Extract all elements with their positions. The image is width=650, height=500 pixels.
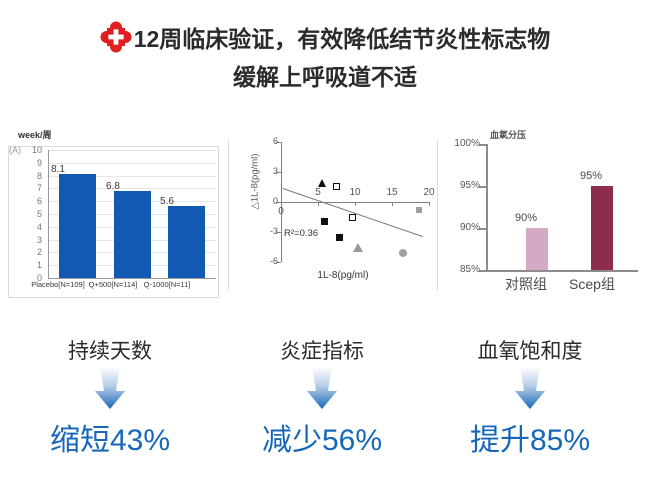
scatter-point-2 [333, 183, 340, 190]
metric-label-inflammation: 炎症指标 [222, 335, 422, 365]
bar-ytick-4: 4 [22, 222, 42, 232]
inflammation-scatter-chart: 6 3 0 -3 -6 0 5 10 15 20 △1L-8(pg/ml) 1L… [238, 128, 433, 303]
scatter-y-axis-label: △1L-8(pg/ml) [250, 137, 261, 227]
oxygen-column-scep [591, 186, 613, 270]
scatter-ytick-n3: -3 [260, 226, 278, 236]
scatter-ytick-6: 6 [260, 136, 278, 146]
oxygen-category-scep: Scep组 [557, 274, 627, 294]
bar-ytick-10: 10 [22, 145, 42, 155]
bar-ytick-6: 6 [22, 196, 42, 206]
scatter-xtick-10: 10 [343, 187, 367, 198]
bar-value-q1000: 5.6 [142, 196, 192, 207]
blood-oxygen-bar-chart: 血氧分压 100% 95% 90% 85% 90% 95% 对照组 Scep组 [446, 128, 642, 303]
oxygen-category-control: 对照组 [491, 274, 561, 294]
title-text-1: 12周临床验证，有效降低结节炎性标志物 [134, 26, 551, 52]
scatter-point-4 [321, 218, 328, 225]
bar-column-q1000 [168, 206, 205, 278]
metric-value-inflammation: 减少56% [212, 415, 432, 459]
page-title: 12周临床验证，有效降低结节炎性标志物 缓解上呼吸道不适 [0, 20, 650, 96]
bar-chart-axis-prefix: (A) [9, 145, 21, 155]
bar-value-placebo: 8.1 [33, 164, 83, 175]
down-arrow-icon-2 [299, 365, 345, 411]
bar-ytick-1: 1 [22, 260, 42, 270]
scatter-point-1 [318, 179, 326, 187]
scatter-xtick-15: 15 [380, 187, 404, 198]
metric-value-oxygen: 提升85% [420, 415, 640, 459]
scatter-point-3 [349, 214, 356, 221]
scatter-point-5 [336, 234, 343, 241]
scatter-ytick-3: 3 [260, 166, 278, 176]
oxygen-value-control: 90% [498, 212, 554, 224]
title-line-1: 12周临床验证，有效降低结节炎性标志物 [0, 20, 650, 58]
scatter-point-6 [353, 243, 363, 252]
oxygen-ytick-85: 85% [446, 264, 480, 275]
oxygen-chart-title: 血氧分压 [490, 128, 526, 141]
scatter-ytick-n6: -6 [260, 256, 278, 266]
scatter-r-squared-annotation: R²=0.36 [284, 228, 318, 239]
column-divider-1 [228, 140, 229, 290]
down-arrow-icon-1 [87, 365, 133, 411]
medical-cross-clover-icon [100, 21, 132, 53]
scatter-point-8 [416, 207, 422, 213]
bar-ytick-5: 5 [22, 209, 42, 219]
scatter-xtick-0: 0 [269, 206, 293, 217]
oxygen-value-scep: 95% [563, 170, 619, 182]
bar-ytick-3: 3 [22, 235, 42, 245]
oxygen-x-axis [486, 270, 638, 272]
oxygen-column-control [526, 228, 548, 270]
title-line-2: 缓解上呼吸道不适 [0, 58, 650, 96]
bar-value-q500: 6.8 [88, 181, 138, 192]
bar-chart-x-axis [48, 278, 216, 279]
oxygen-ytick-95: 95% [446, 180, 480, 191]
scatter-ytick-0: 0 [260, 196, 278, 206]
column-divider-2 [437, 140, 438, 290]
scatter-x-axis-label: 1L-8(pg/ml) [283, 270, 403, 281]
metric-label-oxygen: 血氧饱和度 [430, 335, 630, 365]
metric-label-duration: 持续天数 [10, 335, 210, 365]
scatter-point-7 [399, 249, 407, 257]
oxygen-ytick-100: 100% [446, 138, 480, 149]
bar-chart-unit-label: week/周 [18, 128, 52, 141]
metric-value-duration: 缩短43% [0, 415, 220, 459]
scatter-xtick-5: 5 [306, 187, 330, 198]
down-arrow-icon-3 [507, 365, 553, 411]
oxygen-ytick-90: 90% [446, 222, 480, 233]
bar-category-q1000: Q-1000[N=11] [132, 280, 202, 289]
bar-ytick-2: 2 [22, 247, 42, 257]
bar-ytick-7: 7 [22, 183, 42, 193]
duration-bar-chart: week/周 (A) 10 9 8 7 6 5 4 3 2 1 0 8.1 6.… [8, 128, 220, 300]
